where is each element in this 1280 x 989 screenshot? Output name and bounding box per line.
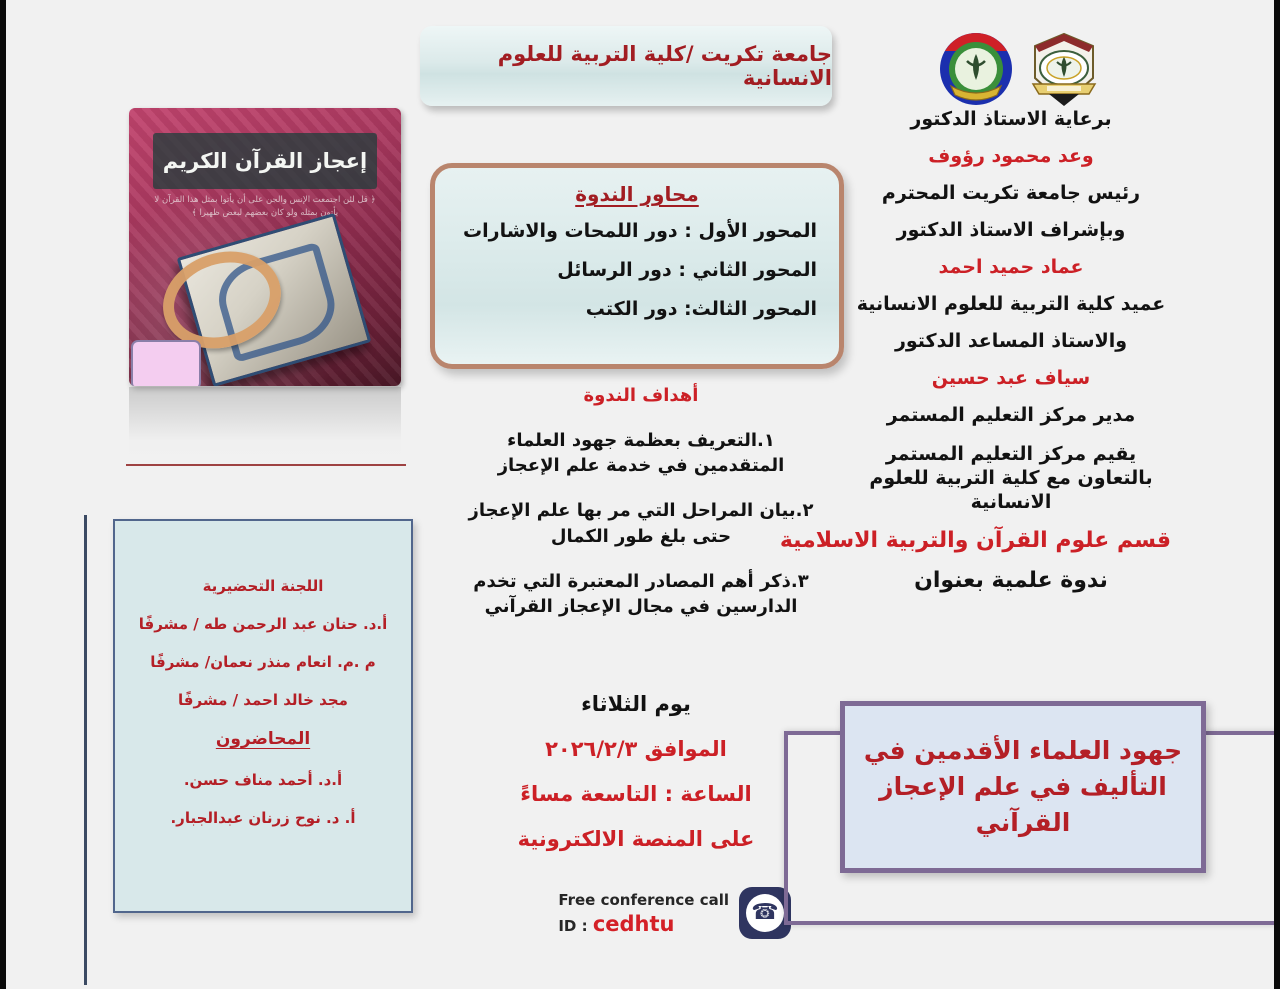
committee-vertical-rule (84, 515, 87, 985)
supervisor-line: وبإشراف الاستاذ الدكتور (851, 221, 1171, 240)
quran-figure: إعجاز القرآن الكريم ﴿ قل لئن اجتمعت الإن… (129, 108, 401, 386)
committee-member-2: م .م. انعام منذر نعمان/ مشرفًا (137, 653, 389, 671)
seminar-axis-item-3: المحور الثالث: دور الكتب (457, 298, 817, 320)
seminar-axes-title: محاور الندوة (457, 182, 817, 206)
sponsor-line: برعاية الاستاذ الدكتور (851, 110, 1171, 129)
assistant-professor-line: والاستاذ المساعد الدكتور (851, 332, 1171, 351)
main-title-line-1: جهود العلماء الأقدمين في (864, 736, 1182, 765)
seminar-goal-item-3: ٣.ذكر أهم المصادر المعتبرة التي تخدم الد… (461, 569, 821, 619)
seminar-axes-box: محاور الندوة المحور الأول : دور اللمحات … (430, 163, 844, 369)
supervisor-role: عميد كلية التربية للعلوم الانسانية (851, 295, 1171, 314)
event-day: يوم الثلاثاء (486, 692, 786, 716)
committee-heading: اللجنة التحضيرية (137, 577, 389, 595)
quran-image: إعجاز القرآن الكريم ﴿ قل لئن اجتمعت الإن… (129, 108, 401, 386)
supervisor-name: عماد حميد احمد (851, 258, 1171, 277)
quran-underline-rule (126, 464, 406, 466)
quran-verse-text: ﴿ قل لئن اجتمعت الإنس والجن على أن يأتوا… (151, 194, 379, 220)
seminar-goals-title: أهداف الندوة (461, 385, 821, 406)
sponsor-role: رئيس جامعة تكريت المحترم (851, 184, 1171, 203)
organizer-line: يقيم مركز التعليم المستمر بالتعاون مع كل… (851, 443, 1171, 514)
seminar-axis-item-1: المحور الأول : دور اللمحات والاشارات (457, 220, 817, 242)
seminar-goal-item-1: ١.التعريف بعظمة جهود العلماء المتقدمين ف… (461, 428, 821, 478)
conference-call-title: Free conference call (558, 891, 729, 909)
logo-group (931, 24, 1101, 114)
sponsorship-column: برعاية الاستاذ الدكتور وعد محمود رؤوف رئ… (851, 110, 1171, 610)
lecturers-heading: المحاضرون (137, 729, 389, 749)
conference-call-info: ☎ Free conference call ID : cedhtu (531, 880, 791, 946)
quran-caption-bar: إعجاز القرآن الكريم (153, 133, 376, 189)
quran-image-reflection (129, 387, 401, 459)
event-platform: على المنصة الالكترونية (486, 827, 786, 851)
event-date: الموافق ٢٠٢٦/٢/٣ (486, 737, 786, 761)
conference-call-id-value: cedhtu (593, 912, 675, 936)
event-schedule: يوم الثلاثاء الموافق ٢٠٢٦/٢/٣ الساعة : ا… (486, 692, 786, 872)
conference-call-id-row: ID : cedhtu (558, 912, 729, 936)
seminar-goals-section: أهداف الندوة ١.التعريف بعظمة جهود العلما… (461, 385, 821, 639)
committee-member-1: أ.د. حنان عبد الرحمن طه / مشرفًا (137, 615, 389, 633)
university-banner-text: جامعة تكريت /كلية التربية للعلوم الانسان… (420, 42, 832, 90)
conference-call-id-label: ID : (558, 917, 592, 935)
main-title-line-2: التأليف في علم الإعجاز القرآني (879, 772, 1167, 837)
committee-box: اللجنة التحضيرية أ.د. حنان عبد الرحمن طه… (113, 519, 413, 913)
university-banner: جامعة تكريت /كلية التربية للعلوم الانسان… (420, 26, 832, 106)
department-name: قسم علوم القرآن والتربية الاسلامية (851, 530, 1171, 552)
assistant-professor-role: مدير مركز التعليم المستمر (851, 406, 1171, 425)
college-of-education-seal-icon (939, 30, 1013, 108)
quran-caption-text: إعجاز القرآن الكريم (163, 149, 367, 173)
event-time: الساعة : التاسعة مساءً (486, 782, 786, 806)
conference-call-text: Free conference call ID : cedhtu (558, 891, 729, 936)
event-type-line: ندوة علمية بعنوان (851, 570, 1171, 592)
main-title-text: جهود العلماء الأقدمين في التأليف في علم … (863, 733, 1183, 842)
seminar-axis-item-2: المحور الثاني : دور الرسائل (457, 259, 817, 281)
sponsor-name: وعد محمود رؤوف (851, 147, 1171, 166)
tikrit-university-crest-icon (1027, 28, 1101, 110)
seminar-poster: جامعة تكريت /كلية التربية للعلوم الانسان… (0, 0, 1280, 989)
committee-member-3: مجد خالد احمد / مشرفًا (137, 691, 389, 709)
assistant-professor-name: سياف عبد حسين (851, 369, 1171, 388)
main-title-box: جهود العلماء الأقدمين في التأليف في علم … (840, 701, 1206, 873)
lecturer-2: أ. د. نوح زرنان عبدالجبار. (137, 809, 389, 827)
lecturer-1: أ.د. أحمد مناف حسن. (137, 771, 389, 789)
seminar-goal-item-2: ٢.بيان المراحل التي مر بها علم الإعجاز ح… (461, 498, 821, 548)
pink-swatch-overlay (131, 340, 201, 386)
phone-glyph: ☎ (746, 894, 784, 932)
